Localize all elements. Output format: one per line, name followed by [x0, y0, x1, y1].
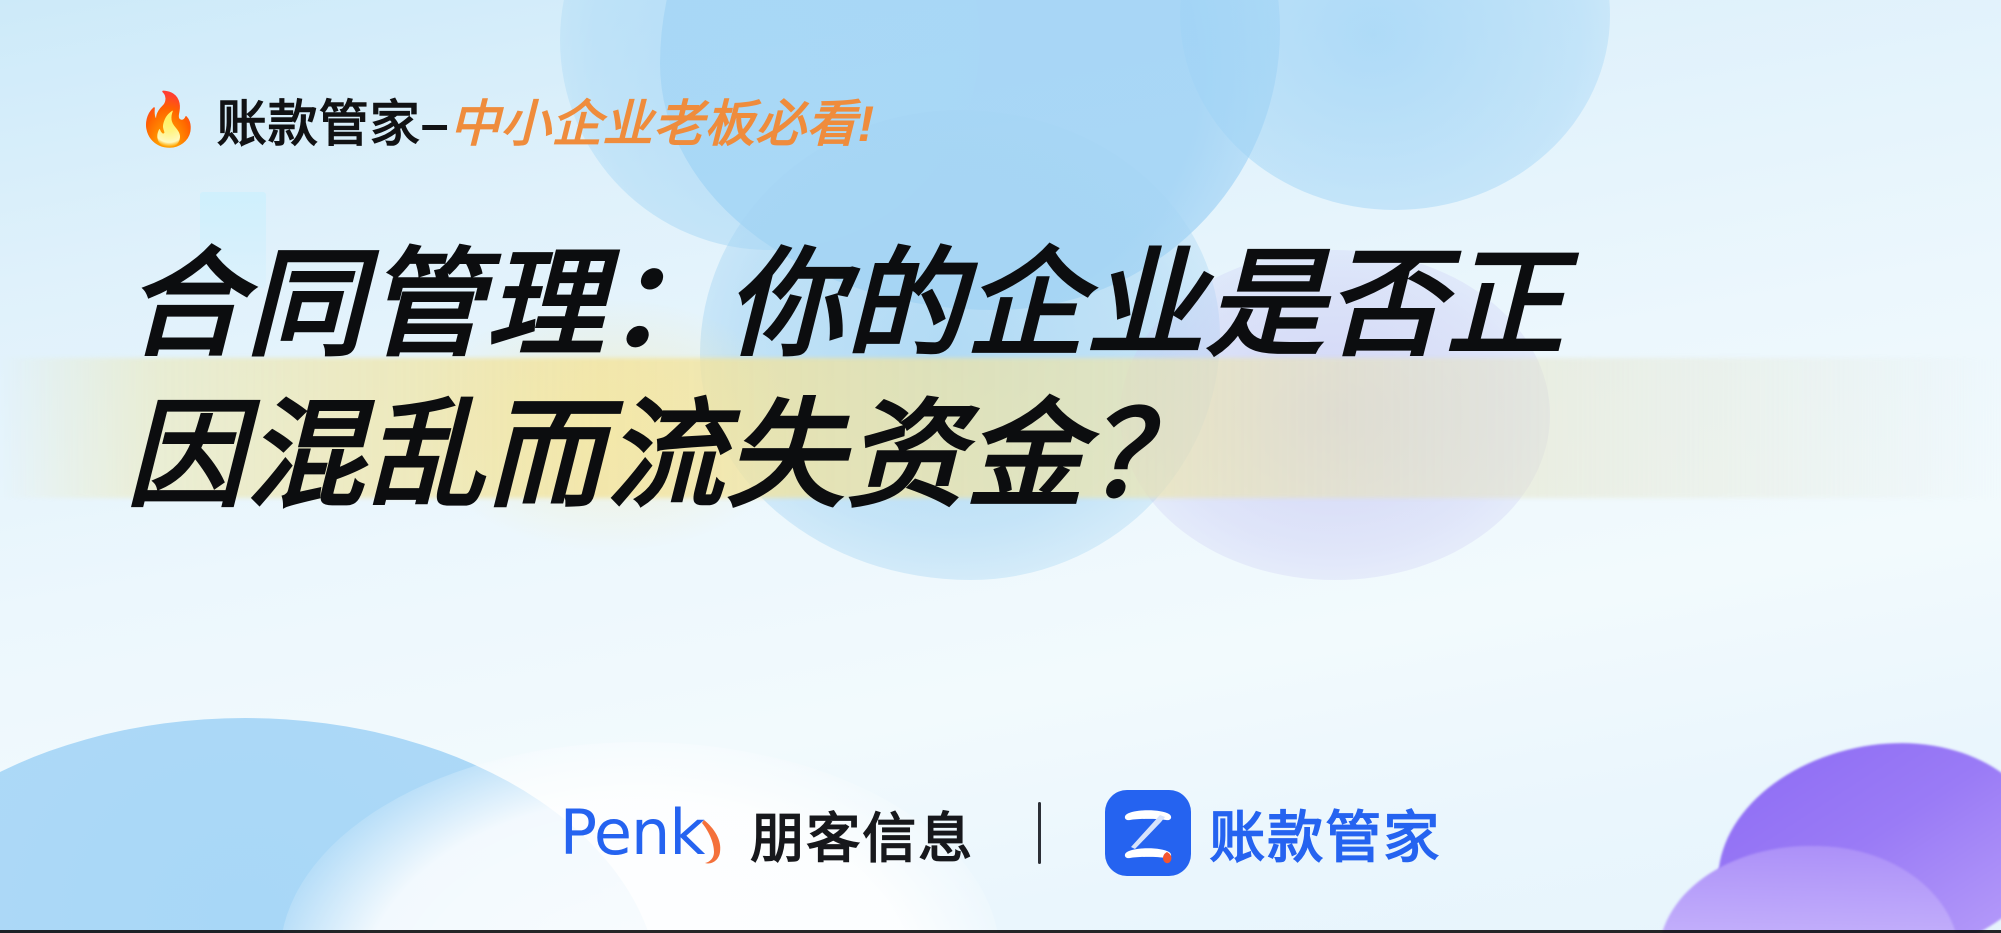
penk-wordmark: Penk [560, 804, 705, 863]
fire-emoji: 🔥 [136, 94, 201, 146]
footer-brand-bar: Penk 朋客信息 [0, 790, 2001, 876]
product-brand-group: 账款管家 [1105, 790, 1441, 876]
penk-logo: Penk [560, 804, 733, 863]
headline-line-1: 合同管理：你的企业是否正 [126, 230, 1946, 381]
promo-banner: 🔥 账款管家– 中小企业老板必看! 合同管理：你的企业是否正 因混乱而流失资金？… [0, 0, 2001, 933]
banner-content: 🔥 账款管家– 中小企业老板必看! 合同管理：你的企业是否正 因混乱而流失资金？… [0, 0, 2001, 933]
headline: 合同管理：你的企业是否正 因混乱而流失资金？ [126, 230, 1946, 532]
headline-line-2: 因混乱而流失资金？ [126, 381, 1946, 532]
zhangkuan-logo-icon [1105, 790, 1191, 876]
kicker-dark-text: 账款管家– [217, 84, 450, 156]
kicker-accent-text: 中小企业老板必看! [450, 84, 876, 156]
brand-divider [1038, 802, 1041, 864]
product-name: 账款管家 [1209, 793, 1441, 874]
penk-tail-icon [698, 812, 732, 862]
company-name: 朋客信息 [750, 794, 974, 873]
company-brand-group: Penk 朋客信息 [560, 794, 975, 873]
kicker-line: 🔥 账款管家– 中小企业老板必看! [136, 84, 875, 156]
